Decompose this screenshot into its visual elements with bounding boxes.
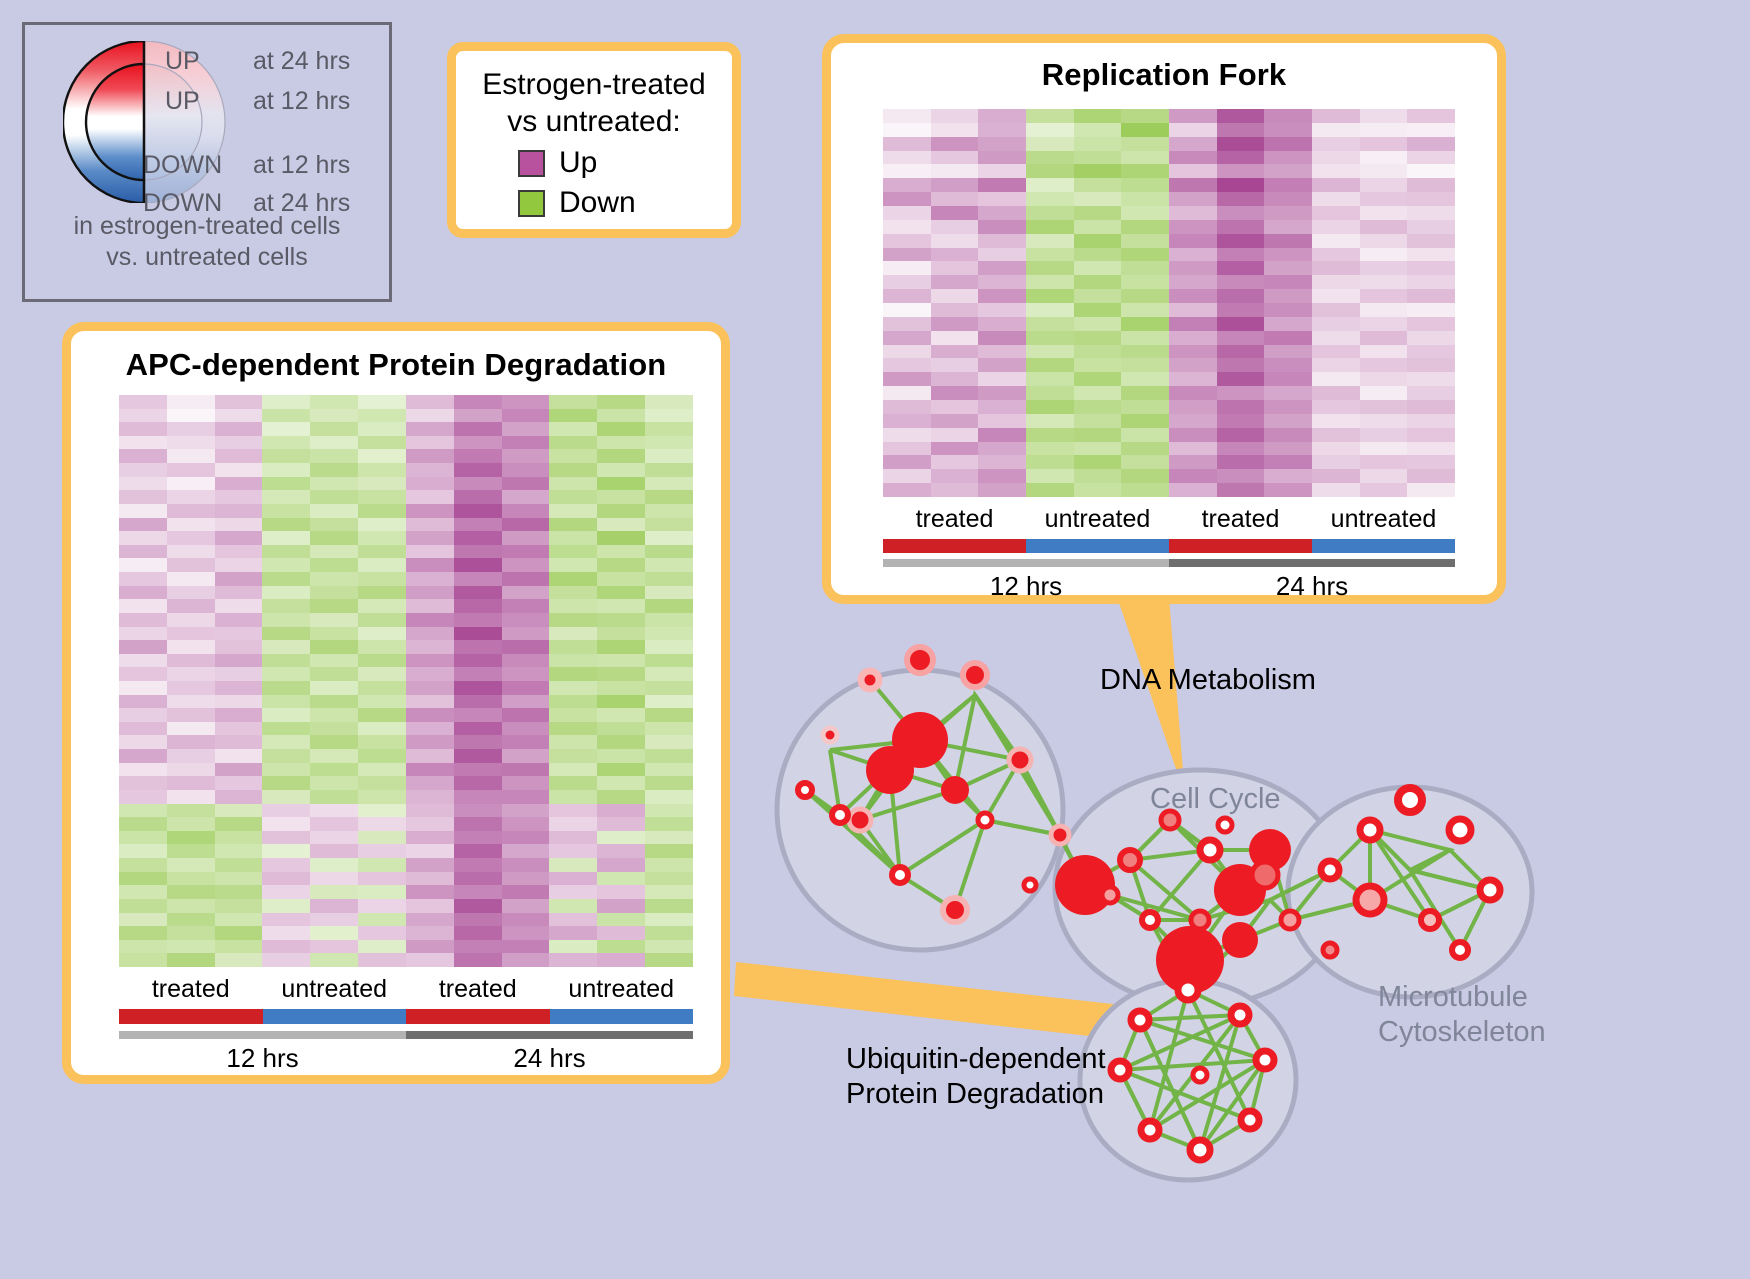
heatmap-cell xyxy=(215,899,263,913)
heatmap-cell xyxy=(1217,289,1265,303)
heatmap-cell xyxy=(1074,192,1122,206)
heatmap-cell xyxy=(358,749,406,763)
time-label-24hrs: 24 hrs xyxy=(406,1043,693,1074)
heatmap-cell xyxy=(502,572,550,586)
treatment-segment-untreated-12 xyxy=(263,1009,407,1024)
heatmap-cell xyxy=(454,477,502,491)
heatmap-cell xyxy=(262,695,310,709)
heatmap-cell xyxy=(645,449,693,463)
heatmap-cell xyxy=(549,831,597,845)
heatmap-cell xyxy=(1169,109,1217,123)
heatmap-cell xyxy=(215,490,263,504)
heatmap-cell xyxy=(215,449,263,463)
heatmap-cell xyxy=(262,627,310,641)
heatmap-cell xyxy=(167,463,215,477)
heatmap-cell xyxy=(215,695,263,709)
heatmap-cell xyxy=(1407,164,1455,178)
heatmap-cell xyxy=(167,504,215,518)
heatmap-cell xyxy=(119,722,167,736)
heatmap-cell xyxy=(549,749,597,763)
heatmap-cell xyxy=(1169,220,1217,234)
heatmap-cell xyxy=(931,109,979,123)
heatmap-cell xyxy=(358,858,406,872)
heatmap-cell xyxy=(454,395,502,409)
heatmap-cell xyxy=(597,872,645,886)
heatmap-cell xyxy=(597,681,645,695)
heatmap-cell xyxy=(645,913,693,927)
heatmap-cell xyxy=(358,940,406,954)
heatmap-cell xyxy=(978,261,1026,275)
heatmap-cell xyxy=(549,695,597,709)
heatmap-cell xyxy=(1217,192,1265,206)
heatmap-cell xyxy=(1312,234,1360,248)
heatmap-cell xyxy=(310,558,358,572)
heatmap-cell xyxy=(406,504,454,518)
heatmap-cell xyxy=(645,940,693,954)
heatmap-cell xyxy=(215,463,263,477)
heatmap-cell xyxy=(310,804,358,818)
function-network-graph xyxy=(770,620,1570,1260)
heatmap-cell xyxy=(119,667,167,681)
heatmap-cell xyxy=(1217,442,1265,456)
heatmap-cell xyxy=(1312,275,1360,289)
heatmap-cell xyxy=(310,885,358,899)
heatmap-cell xyxy=(978,469,1026,483)
heatmap-cell xyxy=(1407,178,1455,192)
heatmap-cell xyxy=(645,477,693,491)
heatmap-cell xyxy=(406,558,454,572)
legend-time-up-12: at 12 hrs xyxy=(253,87,350,116)
heatmap-cell xyxy=(454,572,502,586)
heatmap-cell xyxy=(645,804,693,818)
heatmap-cell xyxy=(215,518,263,532)
sample-label-treated-12: treated xyxy=(119,975,263,1004)
heatmap-cell xyxy=(454,926,502,940)
heatmap-cell xyxy=(1121,469,1169,483)
heatmap-cell xyxy=(597,531,645,545)
heatmap-cell xyxy=(119,586,167,600)
panel-apc-degradation: APC-dependent Protein Degradation treate… xyxy=(62,322,730,1084)
heatmap-cell xyxy=(454,940,502,954)
heatmap-cell xyxy=(119,531,167,545)
heatmap-cell xyxy=(262,613,310,627)
heatmap-cell xyxy=(645,504,693,518)
heatmap-cell xyxy=(310,667,358,681)
heatmap-cell xyxy=(1312,151,1360,165)
heatmap-cell xyxy=(502,640,550,654)
heatmap-cell xyxy=(1407,289,1455,303)
heatmap-cell xyxy=(1312,220,1360,234)
heatmap-cell xyxy=(1074,248,1122,262)
treatment-bar-apc xyxy=(119,1009,693,1024)
legend-time-down-12: at 12 hrs xyxy=(253,151,350,180)
heatmap-cell xyxy=(883,483,931,497)
heatmap-cell xyxy=(1407,123,1455,137)
heatmap-cell xyxy=(597,490,645,504)
heatmap-cell xyxy=(310,953,358,967)
heatmap-cell xyxy=(1360,303,1408,317)
heatmap-cell xyxy=(167,558,215,572)
heatmap-cell xyxy=(119,572,167,586)
heatmap-cell xyxy=(406,667,454,681)
heatmap-cell xyxy=(119,463,167,477)
heatmap-cell xyxy=(931,386,979,400)
heatmap-cell xyxy=(1407,428,1455,442)
heatmap-cell xyxy=(406,422,454,436)
heatmap-cell xyxy=(883,123,931,137)
heatmap-cell xyxy=(1407,303,1455,317)
heatmap-cell xyxy=(1312,123,1360,137)
heatmap-cell xyxy=(1264,483,1312,497)
heatmap-cell xyxy=(262,490,310,504)
heatmap-cell xyxy=(931,400,979,414)
heatmap-cell xyxy=(978,303,1026,317)
heatmap-cell xyxy=(549,395,597,409)
heatmap-cell xyxy=(549,953,597,967)
heatmap-cell xyxy=(310,790,358,804)
heatmap-cell xyxy=(597,885,645,899)
heatmap-cell xyxy=(119,953,167,967)
heatmap-cell xyxy=(883,164,931,178)
heatmap-cell xyxy=(310,926,358,940)
treatment-segment-treated-24 xyxy=(406,1009,550,1024)
heatmap-cell xyxy=(1169,192,1217,206)
heatmap-cell xyxy=(1264,414,1312,428)
sample-labels-apc: treated untreated treated untreated xyxy=(119,975,693,1004)
heatmap-cell xyxy=(978,192,1026,206)
heatmap-cell xyxy=(406,627,454,641)
heatmap-cell xyxy=(645,708,693,722)
heatmap-cell xyxy=(549,436,597,450)
heatmap-cell xyxy=(262,708,310,722)
heatmap-cell xyxy=(1121,442,1169,456)
heatmap-cell xyxy=(167,518,215,532)
heatmap-cell xyxy=(1407,372,1455,386)
heatmap-cell xyxy=(310,776,358,790)
heatmap-cell xyxy=(358,722,406,736)
heatmap-cell xyxy=(1074,469,1122,483)
heatmap-cell xyxy=(931,137,979,151)
heatmap-cell xyxy=(454,654,502,668)
heatmap-cell xyxy=(549,477,597,491)
heatmap-cell xyxy=(931,469,979,483)
heatmap-cell xyxy=(167,409,215,423)
heatmap-cell xyxy=(883,428,931,442)
heatmap-cell xyxy=(1169,178,1217,192)
heatmap-cell xyxy=(167,422,215,436)
heatmap-cell xyxy=(167,844,215,858)
heatmap-cell xyxy=(645,872,693,886)
heatmap-cell xyxy=(1169,151,1217,165)
heatmap-cell xyxy=(1264,275,1312,289)
heatmap-cell xyxy=(1360,164,1408,178)
cluster-label-cell-cycle: Cell Cycle xyxy=(1150,782,1281,817)
heatmap-cell xyxy=(454,858,502,872)
heatmap-cell xyxy=(1360,400,1408,414)
heatmap-cell xyxy=(1074,358,1122,372)
heatmap-cell xyxy=(1312,345,1360,359)
heatmap-cell xyxy=(1407,317,1455,331)
legend-label-down: Down xyxy=(559,186,636,220)
heatmap-cell xyxy=(645,735,693,749)
heatmap-cell xyxy=(1169,234,1217,248)
heatmap-cell xyxy=(215,831,263,845)
heatmap-cell xyxy=(502,395,550,409)
time-bar-apc xyxy=(119,1031,693,1039)
heatmap-cell xyxy=(1217,137,1265,151)
heatmap-cell xyxy=(1360,109,1408,123)
sample-labels-replication-fork: treated untreated treated untreated xyxy=(883,505,1455,534)
heatmap-cell xyxy=(549,681,597,695)
heatmap-cell xyxy=(931,372,979,386)
heatmap-cell xyxy=(262,776,310,790)
heatmap-cell xyxy=(454,749,502,763)
heatmap-cell xyxy=(119,395,167,409)
heatmap-cell xyxy=(597,504,645,518)
sample-label-untreated-24: untreated xyxy=(550,975,694,1004)
heatmap-cell xyxy=(358,545,406,559)
heatmap-cell xyxy=(215,422,263,436)
heatmap-cell xyxy=(597,545,645,559)
heatmap-cell xyxy=(167,790,215,804)
heatmap-cell xyxy=(406,940,454,954)
heatmap-cell xyxy=(1074,123,1122,137)
heatmap-cell xyxy=(119,504,167,518)
heatmap-cell xyxy=(931,151,979,165)
heatmap-cell xyxy=(358,640,406,654)
heatmap-cell xyxy=(1169,345,1217,359)
heatmap-cell xyxy=(119,831,167,845)
heatmap-cell xyxy=(978,275,1026,289)
heatmap-cell xyxy=(1217,358,1265,372)
heatmap-cell xyxy=(502,899,550,913)
heatmap-cell xyxy=(1264,261,1312,275)
panel-title-replication-fork: Replication Fork xyxy=(831,57,1497,93)
heatmap-cell xyxy=(262,926,310,940)
heatmap-cell xyxy=(310,531,358,545)
heatmap-cell xyxy=(358,449,406,463)
heatmap-cell xyxy=(1360,414,1408,428)
heatmap-cell xyxy=(1121,455,1169,469)
heatmap-cell xyxy=(1121,289,1169,303)
heatmap-cell xyxy=(454,899,502,913)
heatmap-cell xyxy=(1074,455,1122,469)
heatmap-cell xyxy=(262,804,310,818)
heatmap-cell xyxy=(358,953,406,967)
heatmap-cell xyxy=(119,790,167,804)
heatmap-cell xyxy=(406,804,454,818)
heatmap-cell xyxy=(358,422,406,436)
heatmap-cell xyxy=(1121,428,1169,442)
heatmap-cell xyxy=(119,804,167,818)
heatmap-cell xyxy=(978,109,1026,123)
heatmap-cell xyxy=(1169,386,1217,400)
heatmap-cell xyxy=(119,477,167,491)
heatmap-cell xyxy=(1312,455,1360,469)
sample-label-untreated-24: untreated xyxy=(1312,505,1455,534)
legend-label-up: Up xyxy=(559,146,597,180)
heatmap-cell xyxy=(549,504,597,518)
heatmap-cell xyxy=(549,722,597,736)
heatmap-cell xyxy=(931,275,979,289)
heatmap-cell xyxy=(406,409,454,423)
heatmap-cell xyxy=(454,953,502,967)
heatmap-cell xyxy=(454,790,502,804)
heatmap-cell xyxy=(1074,261,1122,275)
heatmap-cell xyxy=(1360,442,1408,456)
heatmap-cell xyxy=(1026,414,1074,428)
heatmap-cell xyxy=(358,572,406,586)
heatmap-cell xyxy=(549,463,597,477)
heatmap-cell xyxy=(645,490,693,504)
heatmap-cell xyxy=(1169,289,1217,303)
heatmap-cell xyxy=(406,858,454,872)
heatmap-cell xyxy=(645,409,693,423)
heatmap-cell xyxy=(406,449,454,463)
panel-replication-fork: Replication Fork treated untreated treat… xyxy=(822,34,1506,604)
heatmap-cell xyxy=(502,545,550,559)
heatmap-cell xyxy=(645,749,693,763)
heatmap-cell xyxy=(1312,109,1360,123)
heatmap-cell xyxy=(549,790,597,804)
heatmap-cell xyxy=(406,735,454,749)
time-segment-12hrs xyxy=(883,559,1169,567)
heatmap-cell xyxy=(310,749,358,763)
heatmap-cell xyxy=(1407,386,1455,400)
heatmap-cell xyxy=(406,640,454,654)
heatmap-cell xyxy=(502,667,550,681)
heatmap-cell xyxy=(310,913,358,927)
heatmap-cell xyxy=(167,722,215,736)
treatment-segment-untreated-12 xyxy=(1026,539,1169,553)
heatmap-cell xyxy=(1074,483,1122,497)
heatmap-cell xyxy=(454,490,502,504)
heatmap-cell xyxy=(262,913,310,927)
heatmap-cell xyxy=(883,331,931,345)
heatmap-cell xyxy=(931,358,979,372)
heatmap-cell xyxy=(1026,331,1074,345)
heatmap-cell xyxy=(1217,372,1265,386)
heatmap-cell xyxy=(645,627,693,641)
heatmap-cell xyxy=(1121,234,1169,248)
heatmap-cell xyxy=(1360,289,1408,303)
heatmap-cell xyxy=(1074,109,1122,123)
heatmap-cell xyxy=(167,654,215,668)
heatmap-cell xyxy=(454,776,502,790)
heatmap-cell xyxy=(1121,358,1169,372)
heatmap-cell xyxy=(358,844,406,858)
heatmap-cell xyxy=(1026,345,1074,359)
heatmap-cell xyxy=(1264,442,1312,456)
cluster-label-microtubule: Microtubule Cytoskeleton xyxy=(1378,980,1546,1050)
heatmap-cell xyxy=(1026,109,1074,123)
heatmap-cell xyxy=(502,504,550,518)
heatmap-cell xyxy=(167,477,215,491)
heatmap-cell xyxy=(1121,386,1169,400)
heatmap-cell xyxy=(1264,206,1312,220)
heatmap-cell xyxy=(1121,261,1169,275)
updown-title-line-1: Estrogen-treated xyxy=(456,67,732,104)
heatmap-cell xyxy=(883,151,931,165)
heatmap-cell xyxy=(597,953,645,967)
heatmap-cell xyxy=(1217,386,1265,400)
heatmap-cell xyxy=(1169,455,1217,469)
heatmap-cell xyxy=(1169,414,1217,428)
heatmap-cell xyxy=(406,844,454,858)
heatmap-cell xyxy=(1169,358,1217,372)
sample-label-treated-12: treated xyxy=(883,505,1026,534)
heatmap-cell xyxy=(1169,483,1217,497)
heatmap-cell xyxy=(310,681,358,695)
heatmap-cell xyxy=(549,531,597,545)
heatmap-cell xyxy=(645,586,693,600)
heatmap-cell xyxy=(597,463,645,477)
heatmap-cell xyxy=(262,640,310,654)
heatmap-cell xyxy=(262,531,310,545)
heatmap-cell xyxy=(310,504,358,518)
heatmap-cell xyxy=(1026,192,1074,206)
heatmap-cell xyxy=(1121,151,1169,165)
heatmap-cell xyxy=(1121,372,1169,386)
heatmap-cell xyxy=(454,422,502,436)
heatmap-cell xyxy=(549,940,597,954)
heatmap-cell xyxy=(310,463,358,477)
heatmap-cell xyxy=(406,708,454,722)
heatmap-cell xyxy=(931,428,979,442)
heatmap-cell xyxy=(883,206,931,220)
heatmap-cell xyxy=(1407,248,1455,262)
heatmap-cell xyxy=(502,654,550,668)
heatmap-cell xyxy=(645,899,693,913)
heatmap-cell xyxy=(645,885,693,899)
heatmap-cell xyxy=(1074,164,1122,178)
heatmap-cell xyxy=(1026,386,1074,400)
heatmap-cell xyxy=(931,220,979,234)
heatmap-cell xyxy=(502,558,550,572)
heatmap-cell xyxy=(1407,414,1455,428)
heatmap-cell xyxy=(883,469,931,483)
heatmap-cell xyxy=(978,345,1026,359)
heatmap-cell xyxy=(406,953,454,967)
heatmap-cell xyxy=(1360,137,1408,151)
heatmap-cell xyxy=(215,804,263,818)
heatmap-cell xyxy=(215,640,263,654)
heatmap-cell xyxy=(549,422,597,436)
heatmap-cell xyxy=(358,899,406,913)
heatmap-cell xyxy=(597,708,645,722)
heatmap-cell xyxy=(1312,483,1360,497)
heatmap-cell xyxy=(262,422,310,436)
heatmap-cell xyxy=(1407,192,1455,206)
heatmap-cell xyxy=(454,558,502,572)
heatmap-cell xyxy=(310,477,358,491)
heatmap-cell xyxy=(1407,331,1455,345)
heatmap-cell xyxy=(1074,386,1122,400)
heatmap-cell xyxy=(1360,483,1408,497)
treatment-bar-replication-fork xyxy=(883,539,1455,553)
heatmap-cell xyxy=(1264,345,1312,359)
heatmap-cell xyxy=(931,192,979,206)
legend-time-up-24: at 24 hrs xyxy=(253,47,350,76)
heatmap-cell xyxy=(549,804,597,818)
heatmap-cell xyxy=(931,345,979,359)
heatmap-cell xyxy=(597,654,645,668)
heatmap-cell xyxy=(215,872,263,886)
sample-label-untreated-12: untreated xyxy=(263,975,407,1004)
heatmap-cell xyxy=(262,667,310,681)
heatmap-cell xyxy=(978,317,1026,331)
heatmap-cell xyxy=(1264,178,1312,192)
